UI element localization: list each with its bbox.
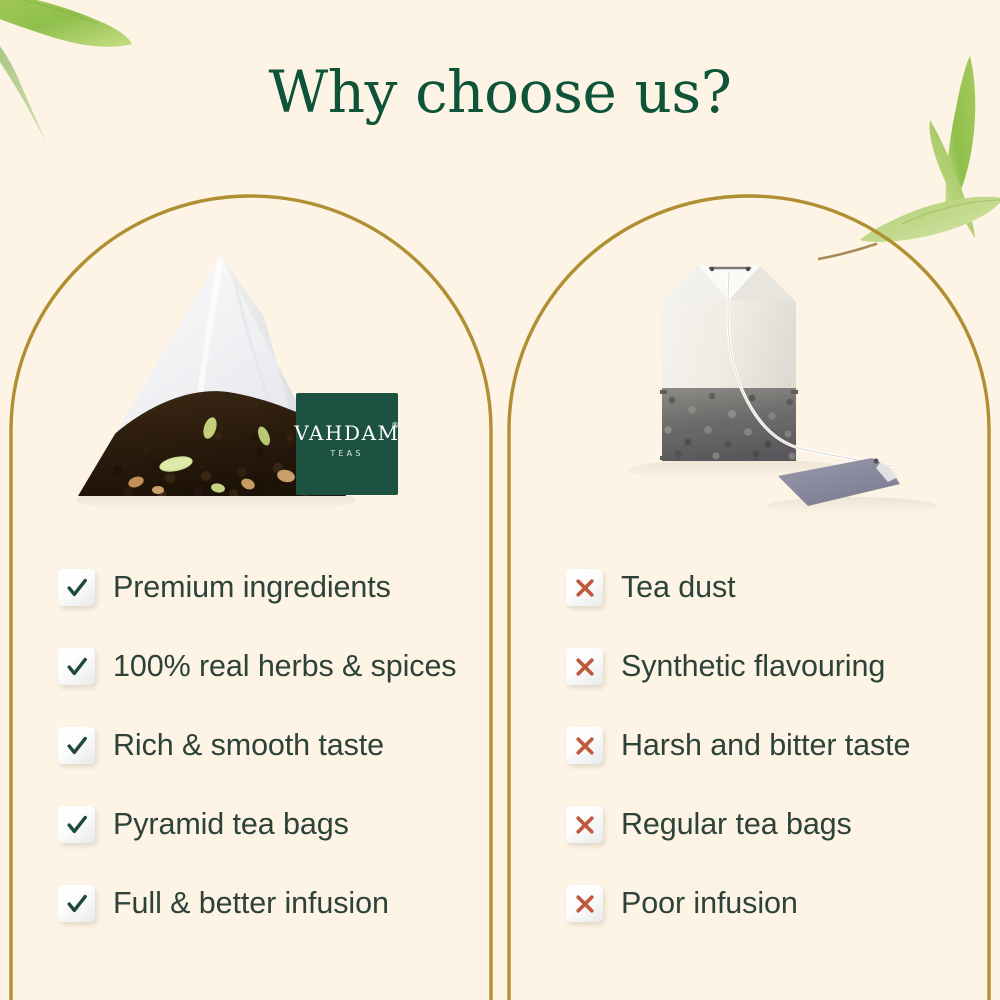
check-icon [58,569,95,606]
cross-icon [566,648,603,685]
list-item: Pyramid tea bags [58,785,488,864]
list-item: Rich & smooth taste [58,706,488,785]
svg-text:VAHDAM: VAHDAM [293,421,400,445]
check-icon [58,648,95,685]
list-item: Regular tea bags [566,785,986,864]
list-item: Premium ingredients [58,548,488,627]
list-item: Poor infusion [566,864,986,943]
cons-panel: Tea dust Synthetic flavouring Harsh and … [500,0,1000,1000]
pros-feature-list: Premium ingredients 100% real herbs & sp… [58,548,488,943]
list-item: Synthetic flavouring [566,627,986,706]
cross-icon [566,569,603,606]
list-item: Harsh and bitter taste [566,706,986,785]
cross-icon [566,885,603,922]
list-item: Full & better infusion [58,864,488,943]
pros-panel: VAHDAM ® TEAS Premium ingredients [0,0,500,1000]
feature-label: 100% real herbs & spices [113,649,456,684]
list-item: 100% real herbs & spices [58,627,488,706]
feature-label: Regular tea bags [621,807,852,842]
cons-feature-list: Tea dust Synthetic flavouring Harsh and … [566,548,986,943]
feature-label: Tea dust [621,570,736,605]
feature-label: Full & better infusion [113,886,389,921]
regular-tea-bag-image [600,238,960,528]
pyramid-tea-bag-image: VAHDAM ® TEAS [58,238,448,528]
cross-icon [566,727,603,764]
vahdam-brand-tag: VAHDAM ® TEAS [293,393,400,495]
check-icon [58,727,95,764]
svg-text:®: ® [391,421,399,430]
comparison-infographic: Why choose us? [0,0,1000,1000]
check-icon [58,885,95,922]
cross-icon [566,806,603,843]
svg-text:TEAS: TEAS [329,449,363,458]
feature-label: Synthetic flavouring [621,649,885,684]
feature-label: Poor infusion [621,886,798,921]
feature-label: Rich & smooth taste [113,728,384,763]
list-item: Tea dust [566,548,986,627]
feature-label: Premium ingredients [113,570,391,605]
feature-label: Harsh and bitter taste [621,728,910,763]
check-icon [58,806,95,843]
feature-label: Pyramid tea bags [113,807,349,842]
